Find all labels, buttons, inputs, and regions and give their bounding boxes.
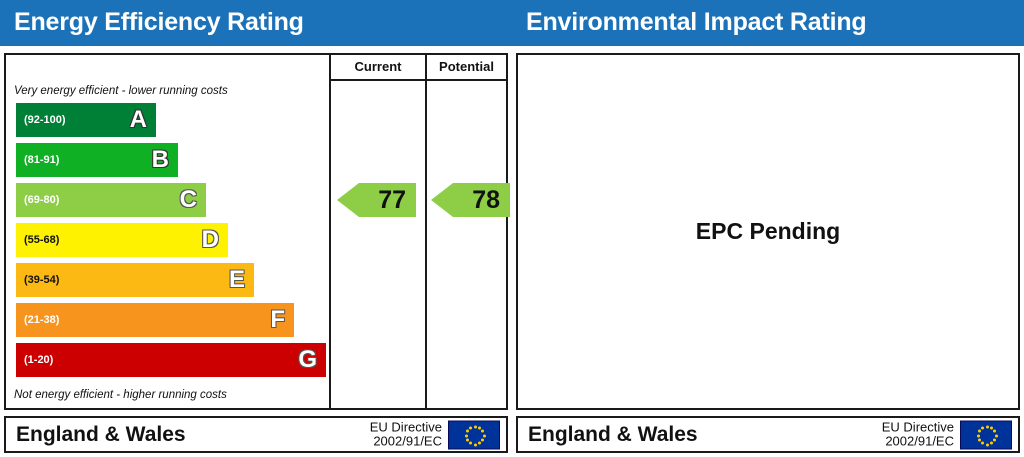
- epc-pending-container: EPC Pending: [518, 55, 1018, 408]
- footer-right: England & Wales EU Directive 2002/91/EC: [516, 416, 1020, 453]
- eu-star: [978, 439, 981, 442]
- eu-star: [469, 426, 472, 429]
- footer-directive-line1: EU Directive: [370, 420, 442, 435]
- footer-directive: EU Directive 2002/91/EC: [882, 420, 954, 449]
- current-rating-value: 77: [378, 188, 406, 213]
- band-letter-a: A: [130, 108, 147, 132]
- band-letter-e: E: [229, 268, 245, 292]
- band-letter-c: C: [180, 188, 197, 212]
- eu-star: [978, 430, 981, 433]
- eu-star: [465, 434, 468, 437]
- eu-star: [993, 439, 996, 442]
- environmental-impact-title: Environmental Impact Rating: [526, 8, 867, 37]
- eu-star: [478, 426, 481, 429]
- eu-star: [478, 442, 481, 445]
- note-very-efficient: Very energy efficient - lower running co…: [14, 85, 228, 97]
- band-bar-a: (92-100) A: [16, 103, 156, 137]
- band-letter-d: D: [202, 228, 219, 252]
- potential-rating-arrow: 78: [431, 183, 510, 217]
- band-range-c: (69-80): [24, 194, 59, 206]
- column-header-potential: Potential: [427, 59, 506, 74]
- environmental-impact-body: EPC Pending: [516, 53, 1020, 410]
- eu-star: [990, 442, 993, 445]
- footer-directive-line1: EU Directive: [882, 420, 954, 435]
- eu-star: [986, 425, 989, 428]
- eu-star: [469, 442, 472, 445]
- eu-star: [990, 426, 993, 429]
- epc-pending-text: EPC Pending: [696, 218, 840, 245]
- band-bar-d: (55-68) D: [16, 223, 228, 257]
- current-rating-arrow: 77: [337, 183, 416, 217]
- band-letter-f: F: [270, 308, 285, 332]
- eu-star: [993, 430, 996, 433]
- eu-star: [981, 426, 984, 429]
- energy-efficiency-panel: Energy Efficiency Rating Current Potenti…: [0, 0, 512, 457]
- eu-star: [481, 439, 484, 442]
- band-range-b: (81-91): [24, 154, 59, 166]
- footer-region-label: England & Wales: [528, 423, 698, 447]
- eu-flag-icon: [960, 420, 1012, 449]
- epc-certificate-graphic: Energy Efficiency Rating Current Potenti…: [0, 0, 1024, 457]
- band-letter-b: B: [152, 148, 169, 172]
- eu-star: [466, 430, 469, 433]
- eu-star: [977, 434, 980, 437]
- band-range-d: (55-68): [24, 234, 59, 246]
- eu-star: [986, 443, 989, 446]
- eu-star: [474, 425, 477, 428]
- band-letter-g: G: [298, 348, 317, 372]
- environmental-impact-header: Environmental Impact Rating: [512, 0, 1024, 46]
- column-header-rule: [329, 79, 506, 81]
- band-bar-b: (81-91) B: [16, 143, 178, 177]
- band-bar-c: (69-80) C: [16, 183, 206, 217]
- eu-star: [483, 434, 486, 437]
- eu-flag-icon: [448, 420, 500, 449]
- band-range-a: (92-100): [24, 114, 66, 126]
- footer-directive-line2: 2002/91/EC: [882, 435, 954, 450]
- band-bar-g: (1-20) G: [16, 343, 326, 377]
- footer-region-label: England & Wales: [16, 423, 186, 447]
- footer-directive-line2: 2002/91/EC: [370, 435, 442, 450]
- footer-left: England & Wales EU Directive 2002/91/EC: [4, 416, 508, 453]
- band-bar-f: (21-38) F: [16, 303, 294, 337]
- energy-efficiency-title: Energy Efficiency Rating: [14, 8, 304, 37]
- band-range-f: (21-38): [24, 314, 59, 326]
- column-header-current: Current: [331, 59, 425, 74]
- eu-star: [474, 443, 477, 446]
- energy-efficiency-chart: Current Potential Very energy efficient …: [4, 53, 508, 410]
- band-bar-e: (39-54) E: [16, 263, 254, 297]
- band-range-e: (39-54): [24, 274, 59, 286]
- footer-directive: EU Directive 2002/91/EC: [370, 420, 442, 449]
- environmental-impact-panel: Environmental Impact Rating EPC Pending …: [512, 0, 1024, 457]
- column-divider-potential: [425, 55, 427, 408]
- potential-rating-value: 78: [472, 188, 500, 213]
- eu-star: [481, 430, 484, 433]
- eu-star: [981, 442, 984, 445]
- eu-star: [995, 434, 998, 437]
- band-range-g: (1-20): [24, 354, 53, 366]
- column-divider-current: [329, 55, 331, 408]
- note-not-efficient: Not energy efficient - higher running co…: [14, 389, 227, 401]
- eu-star: [466, 439, 469, 442]
- energy-efficiency-header: Energy Efficiency Rating: [0, 0, 512, 46]
